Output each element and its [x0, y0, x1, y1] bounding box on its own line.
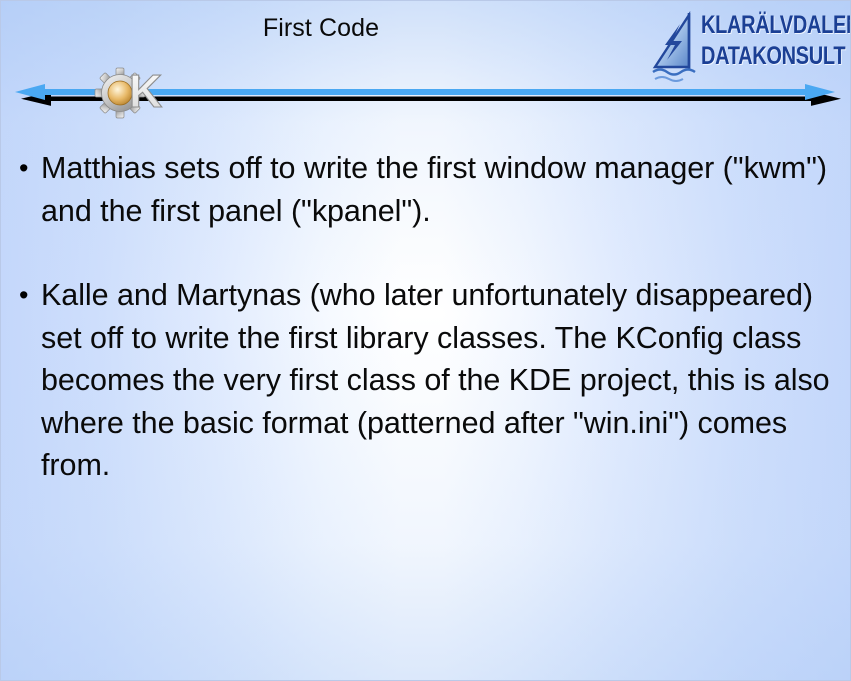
company-logo-line2: DATAKONSULT AB — [701, 41, 815, 72]
bullet-marker: • — [13, 274, 41, 316]
bullet-text-1: Matthias sets off to write the first win… — [41, 147, 838, 232]
list-item: • Kalle and Martynas (who later unfortun… — [13, 274, 838, 487]
kde-gear-icon: K — [93, 59, 163, 121]
company-logo: KLARÄLVDALENS DATAKONSULT AB — [649, 7, 844, 85]
sail-lightning-icon — [649, 11, 697, 83]
list-item: • Matthias sets off to write the first w… — [13, 147, 838, 232]
page-title: First Code — [1, 13, 641, 43]
bullet-marker: • — [13, 147, 41, 189]
kde-gear-letter: K — [129, 65, 162, 117]
company-logo-wordmark: KLARÄLVDALENS DATAKONSULT AB — [701, 10, 844, 72]
company-logo-line1: KLARÄLVDALENS — [701, 10, 815, 41]
bullet-text-2: Kalle and Martynas (who later unfortunat… — [41, 274, 838, 487]
paragraph-spacer — [13, 232, 838, 274]
presentation-slide: First Code — [0, 0, 851, 681]
slide-body: • Matthias sets off to write the first w… — [13, 147, 838, 487]
